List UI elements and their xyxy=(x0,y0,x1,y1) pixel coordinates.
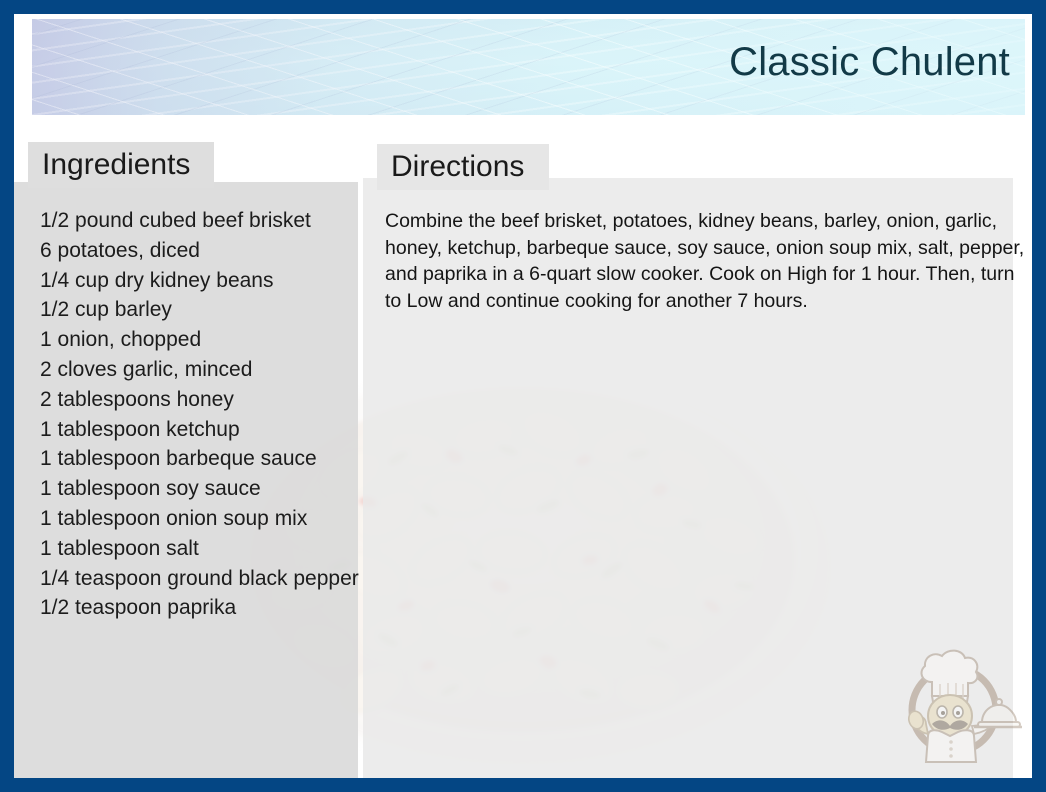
ingredient-item: 1 tablespoon onion soup mix xyxy=(40,504,370,534)
ingredient-item: 1/4 teaspoon ground black pepper xyxy=(40,564,370,594)
directions-text: Combine the beef brisket, potatoes, kidn… xyxy=(385,208,1030,314)
ingredient-item: 1/2 cup barley xyxy=(40,295,370,325)
ingredient-item: 1 tablespoon salt xyxy=(40,534,370,564)
slide-canvas: Classic Chulent xyxy=(14,14,1032,778)
page-title: Classic Chulent xyxy=(729,36,1010,88)
ingredient-item: 1 tablespoon soy sauce xyxy=(40,474,370,504)
ingredients-list: 1/2 pound cubed beef brisket 6 potatoes,… xyxy=(40,206,370,623)
ingredient-item: 2 cloves garlic, minced xyxy=(40,355,370,385)
ingredient-item: 2 tablespoons honey xyxy=(40,385,370,415)
ingredient-item: 1 tablespoon ketchup xyxy=(40,415,370,445)
recipe-slide: Classic Chulent xyxy=(0,0,1046,792)
ingredient-item: 1 tablespoon barbeque sauce xyxy=(40,444,370,474)
ingredient-item: 6 potatoes, diced xyxy=(40,236,370,266)
ingredient-item: 1/2 pound cubed beef brisket xyxy=(40,206,370,236)
directions-header: Directions xyxy=(377,144,549,190)
ingredient-item: 1/4 cup dry kidney beans xyxy=(40,266,370,296)
ingredient-item: 1/2 teaspoon paprika xyxy=(40,593,370,623)
ingredients-header: Ingredients xyxy=(28,142,214,188)
ingredient-item: 1 onion, chopped xyxy=(40,325,370,355)
